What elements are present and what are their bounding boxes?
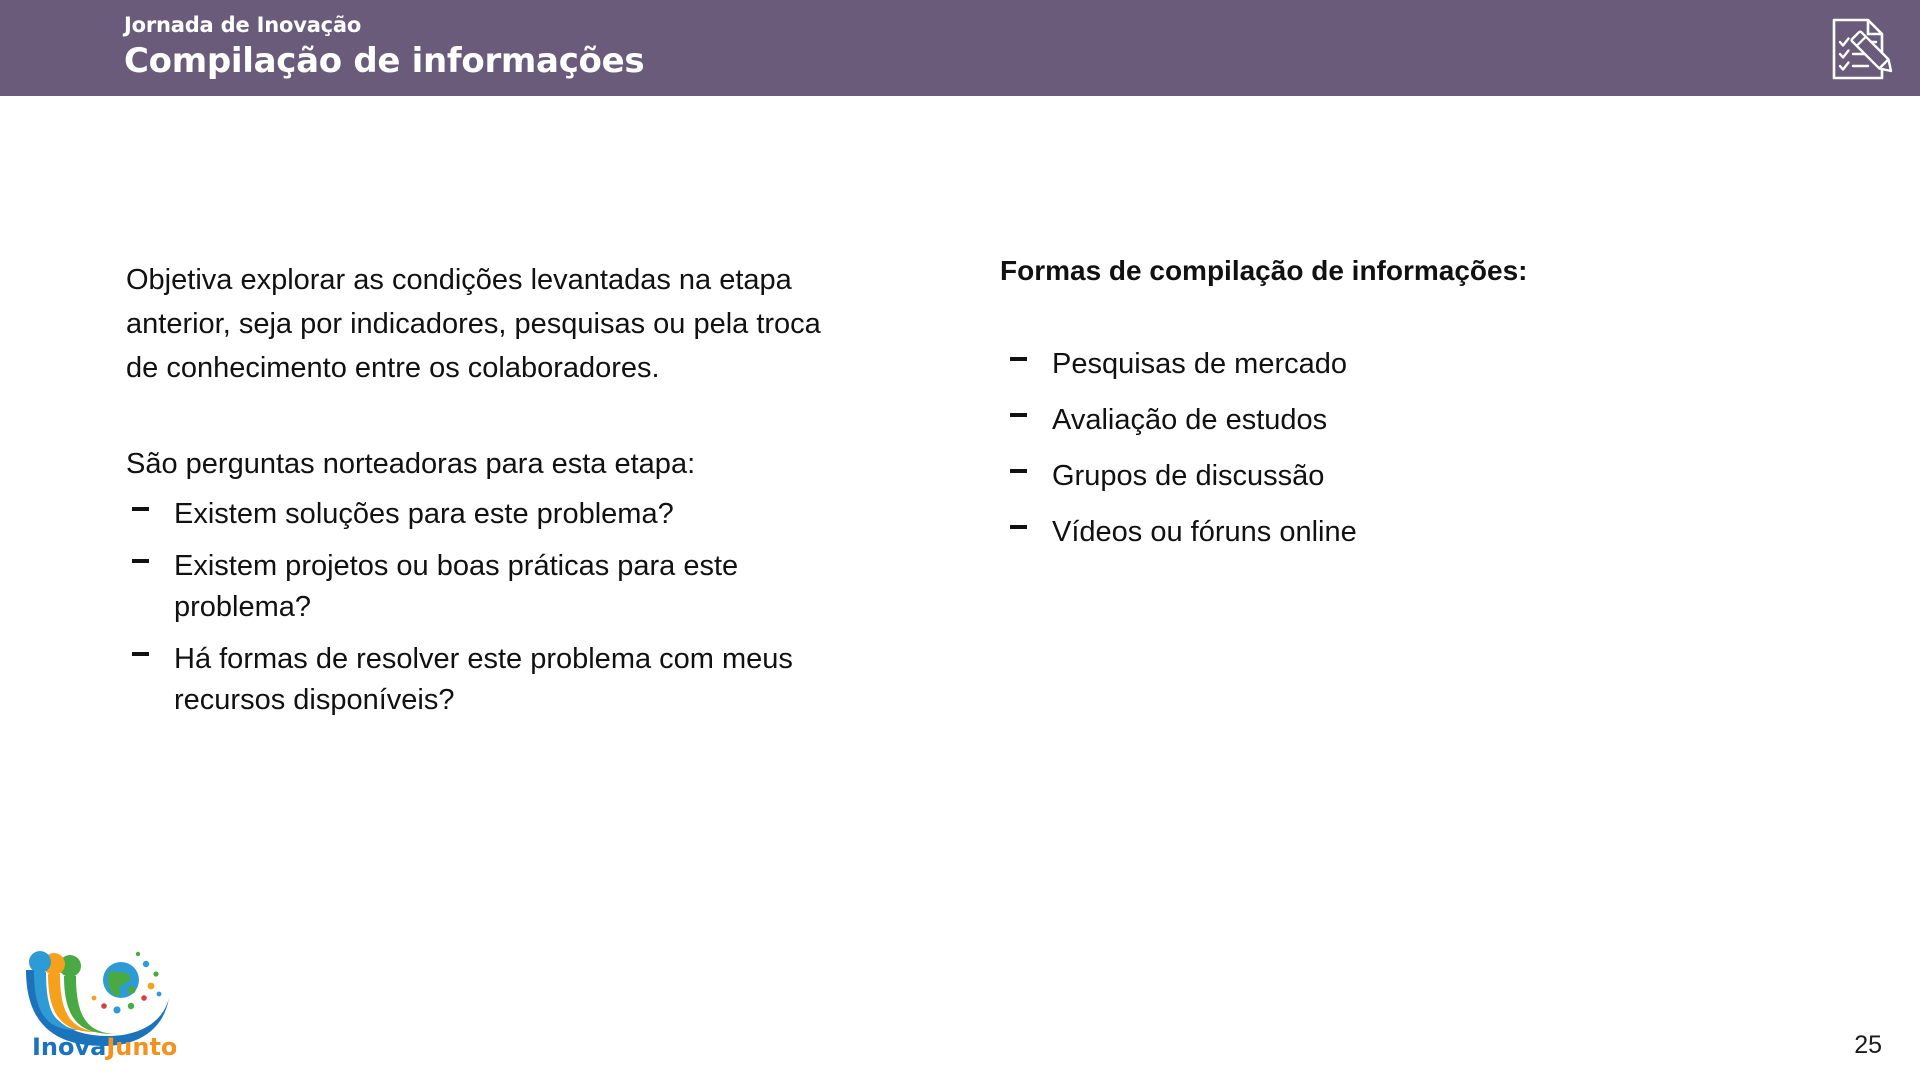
list-item: Existem projetos ou boas práticas para e… <box>126 546 826 628</box>
svg-text:InovaJuntos: InovaJuntos <box>32 1033 176 1060</box>
dash-bullet-icon <box>1010 525 1027 529</box>
right-content-column: Formas de compilação de informações: Pes… <box>1000 252 1760 568</box>
header-text-group: Jornada de Inovação Compilação de inform… <box>124 12 644 83</box>
list-item-label: Avaliação de estudos <box>1052 404 1327 436</box>
left-content-column: Objetiva explorar as condições levantada… <box>126 258 826 732</box>
list-item-label: Grupos de discussão <box>1052 460 1324 492</box>
list-item: Avaliação de estudos <box>1000 400 1760 441</box>
checklist-document-pencil-icon <box>1824 12 1898 86</box>
page-title: Compilação de informações <box>124 39 644 83</box>
questions-lead-in: São perguntas norteadoras para esta etap… <box>126 442 826 486</box>
compilation-methods-list: Pesquisas de mercado Avaliação de estudo… <box>1000 344 1760 553</box>
list-item-label: Existem projetos ou boas práticas para e… <box>174 550 738 623</box>
guiding-questions-list: Existem soluções para este problema? Exi… <box>126 494 826 721</box>
list-item: Há formas de resolver este problema com … <box>126 639 826 721</box>
dash-bullet-icon <box>1010 469 1027 473</box>
list-item-label: Pesquisas de mercado <box>1052 348 1347 380</box>
list-item: Existem soluções para este problema? <box>126 494 826 535</box>
compilation-heading: Formas de compilação de informações: <box>1000 252 1760 290</box>
paragraph-spacer <box>126 390 826 442</box>
list-item-label: Existem soluções para este problema? <box>174 498 674 530</box>
intro-paragraph: Objetiva explorar as condições levantada… <box>126 258 826 390</box>
list-item: Grupos de discussão <box>1000 456 1760 497</box>
inovajuntos-logo: InovaJuntos <box>18 936 176 1060</box>
list-item-label: Vídeos ou fóruns online <box>1052 516 1357 548</box>
dash-bullet-icon <box>132 652 149 656</box>
list-item: Vídeos ou fóruns online <box>1000 512 1760 553</box>
header-eyebrow: Jornada de Inovação <box>124 12 644 38</box>
dash-bullet-icon <box>132 559 149 563</box>
dash-bullet-icon <box>1010 413 1027 417</box>
page-number: 25 <box>1854 1031 1882 1060</box>
dash-bullet-icon <box>132 507 149 511</box>
list-item: Pesquisas de mercado <box>1000 344 1760 385</box>
dash-bullet-icon <box>1010 357 1027 361</box>
list-item-label: Há formas de resolver este problema com … <box>174 643 793 716</box>
